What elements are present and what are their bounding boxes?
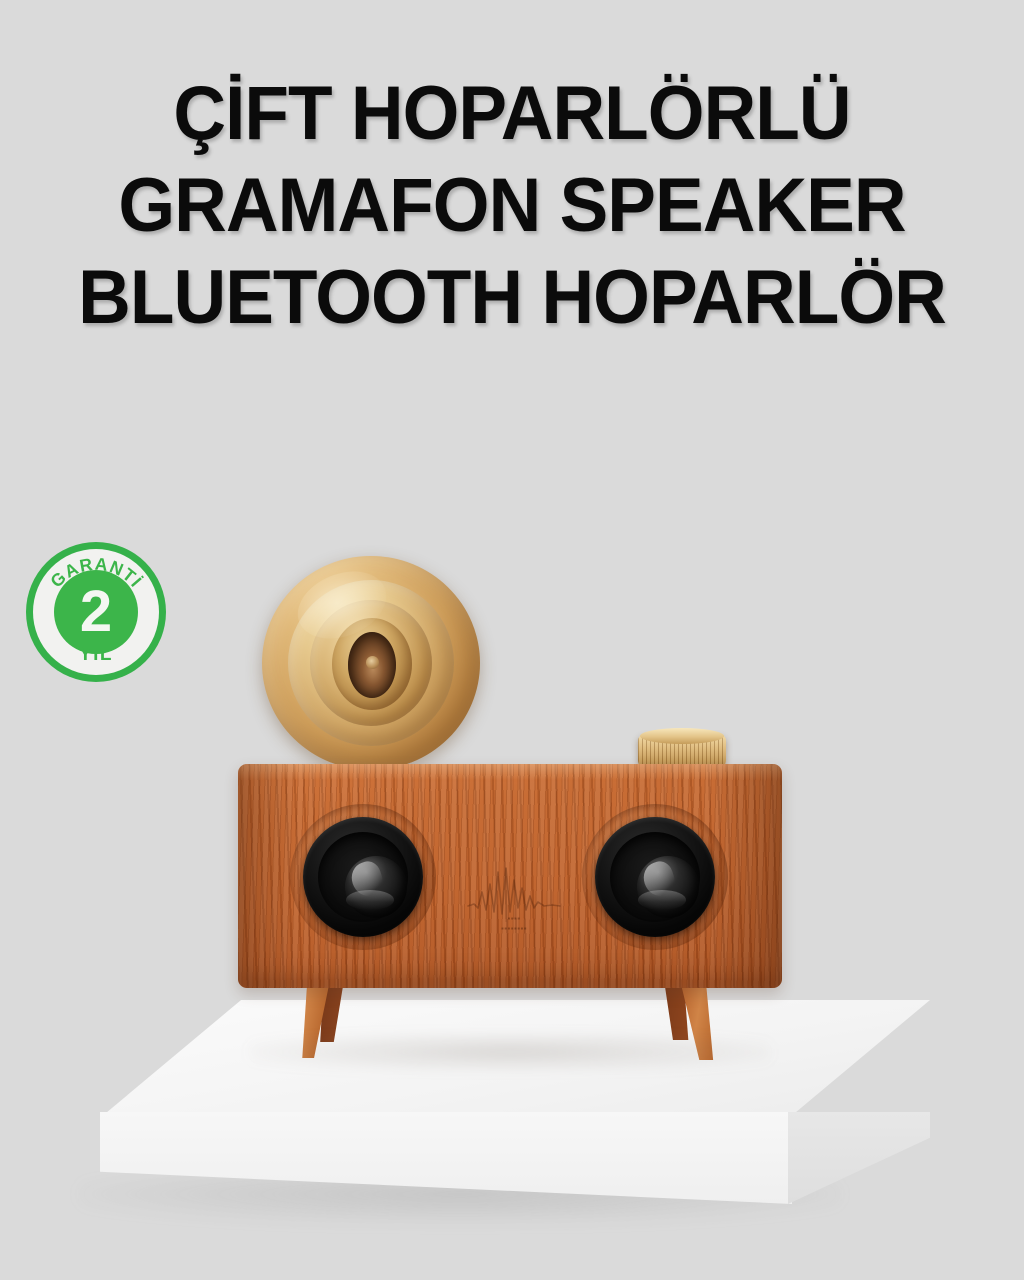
left-speaker-driver	[303, 817, 423, 937]
white-display-pedestal	[100, 1000, 930, 1210]
engraving-caption: ▪▪▪▪▪▪▪▪▪▪▪▪	[458, 914, 570, 934]
gramophone-horn	[262, 556, 480, 770]
wooden-cabinet: ▪▪▪▪▪▪▪▪▪▪▪▪	[238, 764, 782, 988]
pedestal-right-face	[788, 1112, 930, 1204]
right-driver-lower-highlight	[638, 890, 686, 910]
product-ad-canvas: ÇİFT HOPARLÖRLÜ GRAMAFON SPEAKER BLUETOO…	[0, 0, 1024, 1280]
cabinet-left-shading	[238, 764, 298, 988]
product-photo: ▪▪▪▪▪▪▪▪▪▪▪▪	[0, 0, 1024, 1280]
cabinet-top-edge	[238, 764, 782, 780]
knob-top-face	[640, 728, 724, 744]
horn-center-dot	[366, 656, 379, 669]
right-driver-cone	[610, 832, 700, 922]
left-driver-cone	[318, 832, 408, 922]
cabinet-drop-shadow	[250, 1034, 770, 1070]
left-driver-lower-highlight	[346, 890, 394, 910]
right-speaker-driver	[595, 817, 715, 937]
pedestal-front-face	[100, 1112, 792, 1204]
